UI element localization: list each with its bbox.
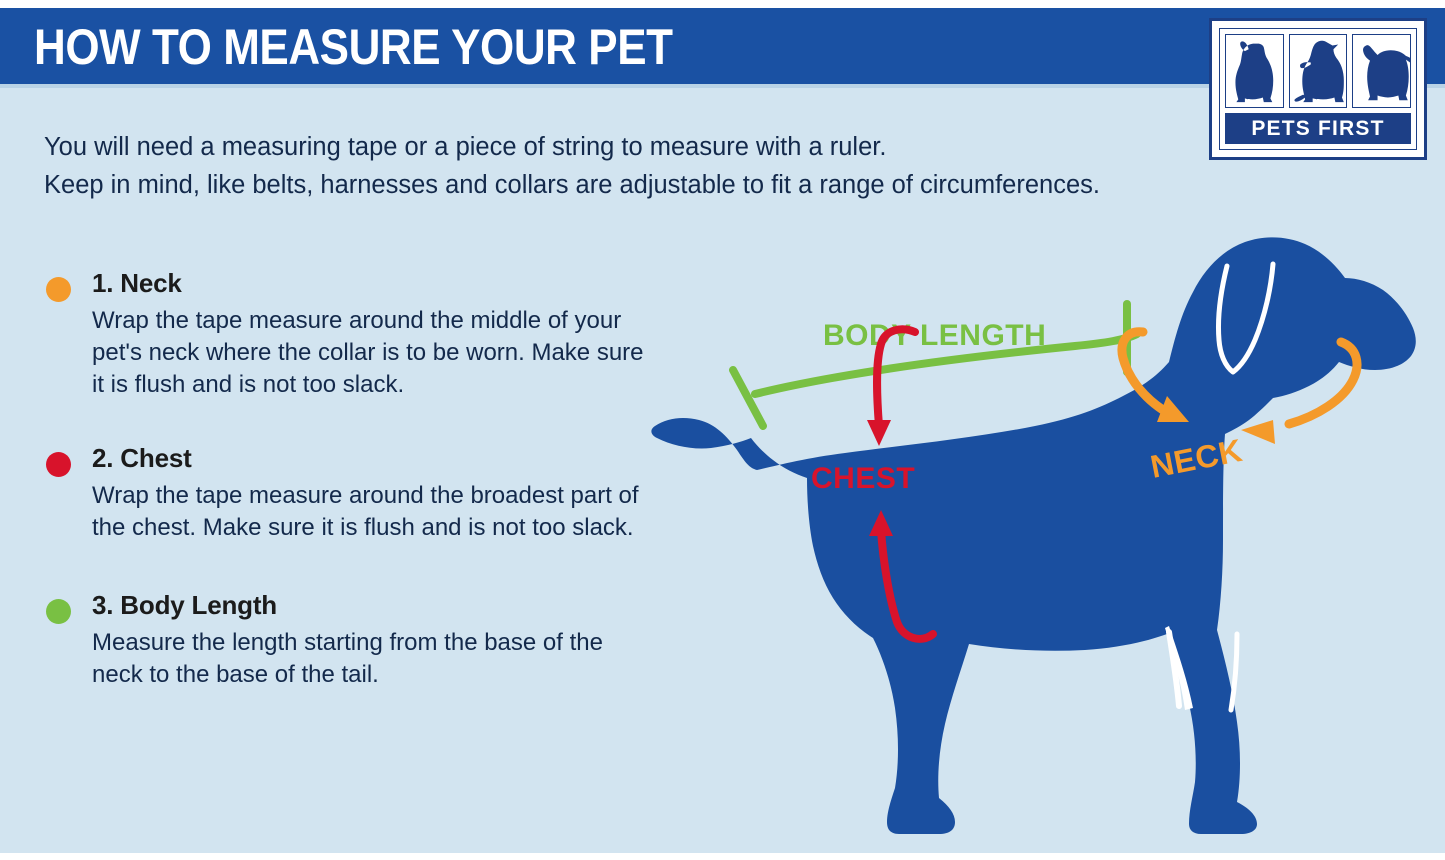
chest-arrow-down-head (867, 420, 891, 446)
step-item-body-length: 3. Body Length Measure the length starti… (40, 590, 650, 691)
dog-howling-silhouette-icon (1289, 34, 1348, 108)
infographic-page: HOW TO MEASURE YOUR PET (0, 0, 1445, 860)
bottom-white-strip (0, 853, 1445, 860)
dog-standing-silhouette-icon (1352, 34, 1411, 108)
intro-text: You will need a measuring tape or a piec… (44, 128, 1204, 204)
step-title-neck: 1. Neck (92, 268, 650, 299)
top-white-strip (0, 0, 1445, 8)
logo-panels (1225, 34, 1411, 108)
step-body-body-length: Measure the length starting from the bas… (92, 627, 650, 691)
measurement-steps-list: 1. Neck Wrap the tape measure around the… (40, 268, 650, 733)
step-item-chest: 2. Chest Wrap the tape measure around th… (40, 443, 650, 544)
dog-sitting-silhouette-icon (1225, 34, 1284, 108)
brand-logo: PETS FIRST (1209, 18, 1427, 160)
body-length-label: BODY LENGTH (823, 319, 1046, 352)
page-title: HOW TO MEASURE YOUR PET (34, 16, 673, 78)
dog-measurement-diagram: BODY LENGTH CHEST NECK (645, 230, 1445, 850)
body-length-measure-marker: BODY LENGTH (733, 304, 1137, 426)
bullet-body-length-icon (46, 599, 71, 624)
step-body-chest: Wrap the tape measure around the broades… (92, 480, 650, 544)
chest-label: CHEST (811, 462, 915, 495)
bullet-neck-icon (46, 277, 71, 302)
bullet-chest-icon (46, 452, 71, 477)
step-item-neck: 1. Neck Wrap the tape measure around the… (40, 268, 650, 401)
neck-arrow-right-head (1241, 420, 1275, 444)
step-body-neck: Wrap the tape measure around the middle … (92, 305, 650, 401)
body-length-left-tick (733, 370, 763, 426)
intro-line-2: Keep in mind, like belts, harnesses and … (44, 166, 1204, 204)
intro-line-1: You will need a measuring tape or a piec… (44, 128, 1204, 166)
step-title-chest: 2. Chest (92, 443, 650, 474)
step-title-body-length: 3. Body Length (92, 590, 650, 621)
logo-inner-frame: PETS FIRST (1219, 28, 1417, 150)
rear-leg-separation-line (1231, 634, 1237, 710)
logo-wordmark: PETS FIRST (1225, 113, 1411, 144)
